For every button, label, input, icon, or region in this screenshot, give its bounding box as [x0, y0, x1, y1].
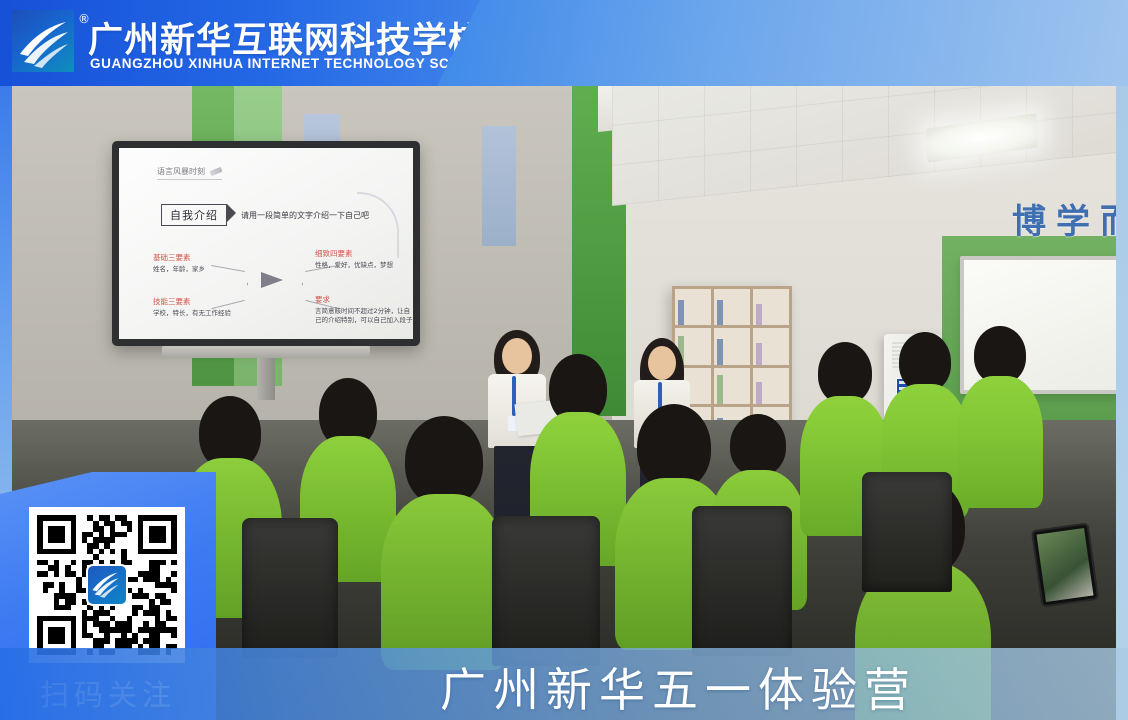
- head: [899, 332, 951, 392]
- qr-center-logo-icon: [86, 564, 128, 606]
- slide-quadrant-heading: 基础三要素: [153, 252, 205, 263]
- slide-screen: 语言风暴时刻 自我介绍 请用一段简单的文字介绍一下自己吧 基础三要素 姓名，年龄…: [119, 148, 413, 339]
- paper-plane-icon: [261, 272, 283, 288]
- chair: [862, 472, 952, 592]
- slide-title-arrow-icon: [227, 204, 236, 222]
- shelf-cell: [714, 328, 750, 364]
- event-title: 广州新华五一体验营: [440, 654, 917, 720]
- head: [730, 414, 786, 476]
- slide-quadrant-body: 学校，特长，有无工作经验: [153, 309, 231, 318]
- slide-quadrant: 基础三要素 姓名，年龄，家乡: [153, 252, 205, 274]
- display-stand: [162, 346, 370, 358]
- shelf-cell: [753, 289, 789, 325]
- slide-connector: [211, 265, 245, 272]
- frame-border-right: [1116, 86, 1128, 720]
- head: [818, 342, 872, 404]
- slide-quadrant-body: 言简意赅时间不超过2分钟，让自己的介绍特别，可以自己加入段子: [315, 307, 413, 326]
- slide-center-graphic: [247, 256, 303, 312]
- smartphone-icon: [1031, 522, 1099, 607]
- wall-panel-blue-2: [482, 126, 516, 246]
- shelf-cell: [675, 289, 711, 325]
- slide-quadrant: 技能三要素 学校，特长，有无工作经验: [153, 296, 231, 318]
- phone-screen: [1037, 528, 1094, 602]
- wall-slogan-text: 博学而: [1012, 194, 1116, 243]
- slide-curved-arrow-icon: [357, 192, 399, 258]
- brand-name-en: GUANGZHOU XINHUA INTERNET TECHNOLOGY SCH…: [90, 56, 491, 71]
- header-bar: ® 广州新华互联网科技学校 GUANGZHOU XINHUA INTERNET …: [0, 0, 1128, 86]
- head: [405, 416, 483, 506]
- slide-quadrant-body: 性格，爱好，优缺点，梦想: [315, 261, 393, 270]
- student: [384, 416, 504, 656]
- head: [502, 338, 532, 374]
- shelf-cell: [714, 289, 750, 325]
- chair: [242, 518, 338, 658]
- header-brand-block: ® 广州新华互联网科技学校 GUANGZHOU XINHUA INTERNET …: [0, 0, 480, 86]
- chair: [692, 506, 792, 656]
- poster-root: 博学而 语言风暴时刻 自我介绍 请用一段简单的文字介绍一下自己吧: [0, 0, 1128, 720]
- slide-quadrant-heading: 要求: [315, 294, 413, 305]
- shelf-cell: [753, 328, 789, 364]
- slide-title: 自我介绍: [161, 204, 227, 226]
- interactive-display[interactable]: 语言风暴时刻 自我介绍 请用一段简单的文字介绍一下自己吧 基础三要素 姓名，年龄…: [112, 141, 420, 346]
- shelf-cell: [714, 368, 750, 404]
- slide-kicker: 语言风暴时刻: [157, 166, 222, 180]
- slide-quadrant-body: 姓名，年龄，家乡: [153, 265, 205, 274]
- display-pole: [257, 358, 275, 400]
- slide-quadrant: 要求 言简意赅时间不超过2分钟，让自己的介绍特别，可以自己加入段子: [315, 294, 413, 326]
- xinhua-swoosh-logo-icon: [12, 10, 74, 72]
- slide-quadrant-heading: 技能三要素: [153, 296, 231, 307]
- slide-subtitle: 请用一段简单的文字介绍一下自己吧: [241, 210, 369, 221]
- qr-code[interactable]: [29, 507, 185, 663]
- pencil-icon: [210, 167, 223, 176]
- shelf-cell: [753, 368, 789, 404]
- uniform: [381, 494, 507, 670]
- chair: [492, 516, 600, 666]
- slide-kicker-text: 语言风暴时刻: [157, 167, 205, 176]
- head: [648, 346, 676, 380]
